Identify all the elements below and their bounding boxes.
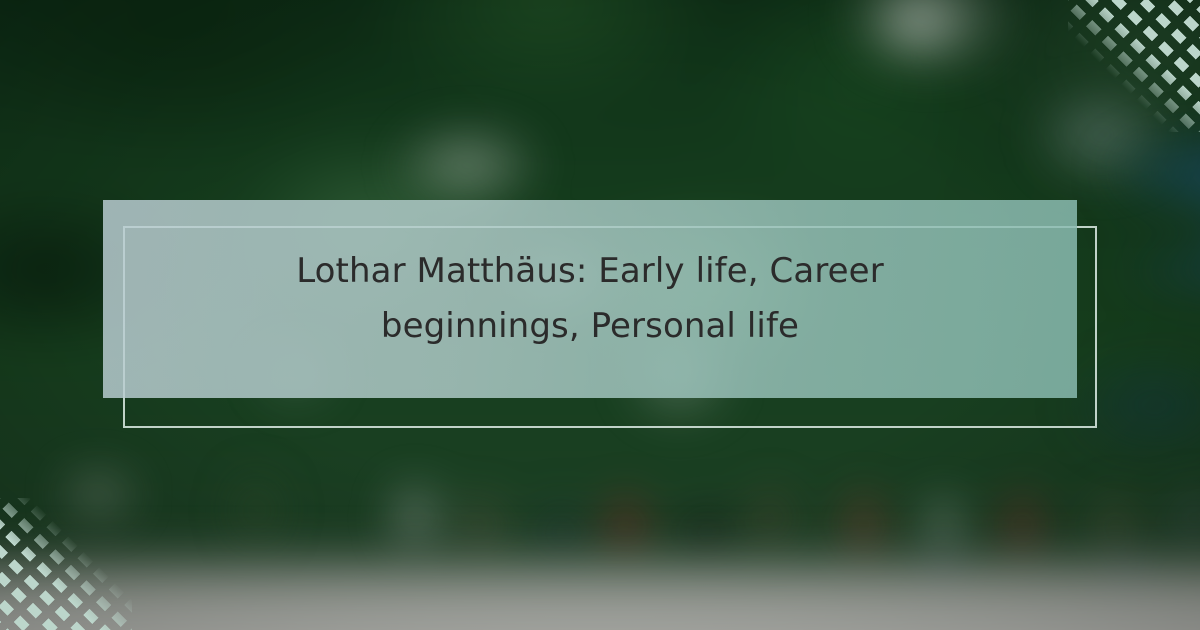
share-card-canvas: Lothar Matthäus: Early life, Career begi…	[0, 0, 1200, 630]
title-card: Lothar Matthäus: Early life, Career begi…	[103, 200, 1077, 398]
top-right-diagonal-dashes-decoration	[1068, 0, 1200, 132]
page-title-line-1: Lothar Matthäus: Early life, Career	[296, 251, 884, 291]
page-title-line-2: beginnings, Personal life	[381, 306, 799, 346]
bottom-left-diagonal-dashes-decoration	[0, 498, 132, 630]
page-title: Lothar Matthäus: Early life, Career begi…	[296, 244, 884, 354]
